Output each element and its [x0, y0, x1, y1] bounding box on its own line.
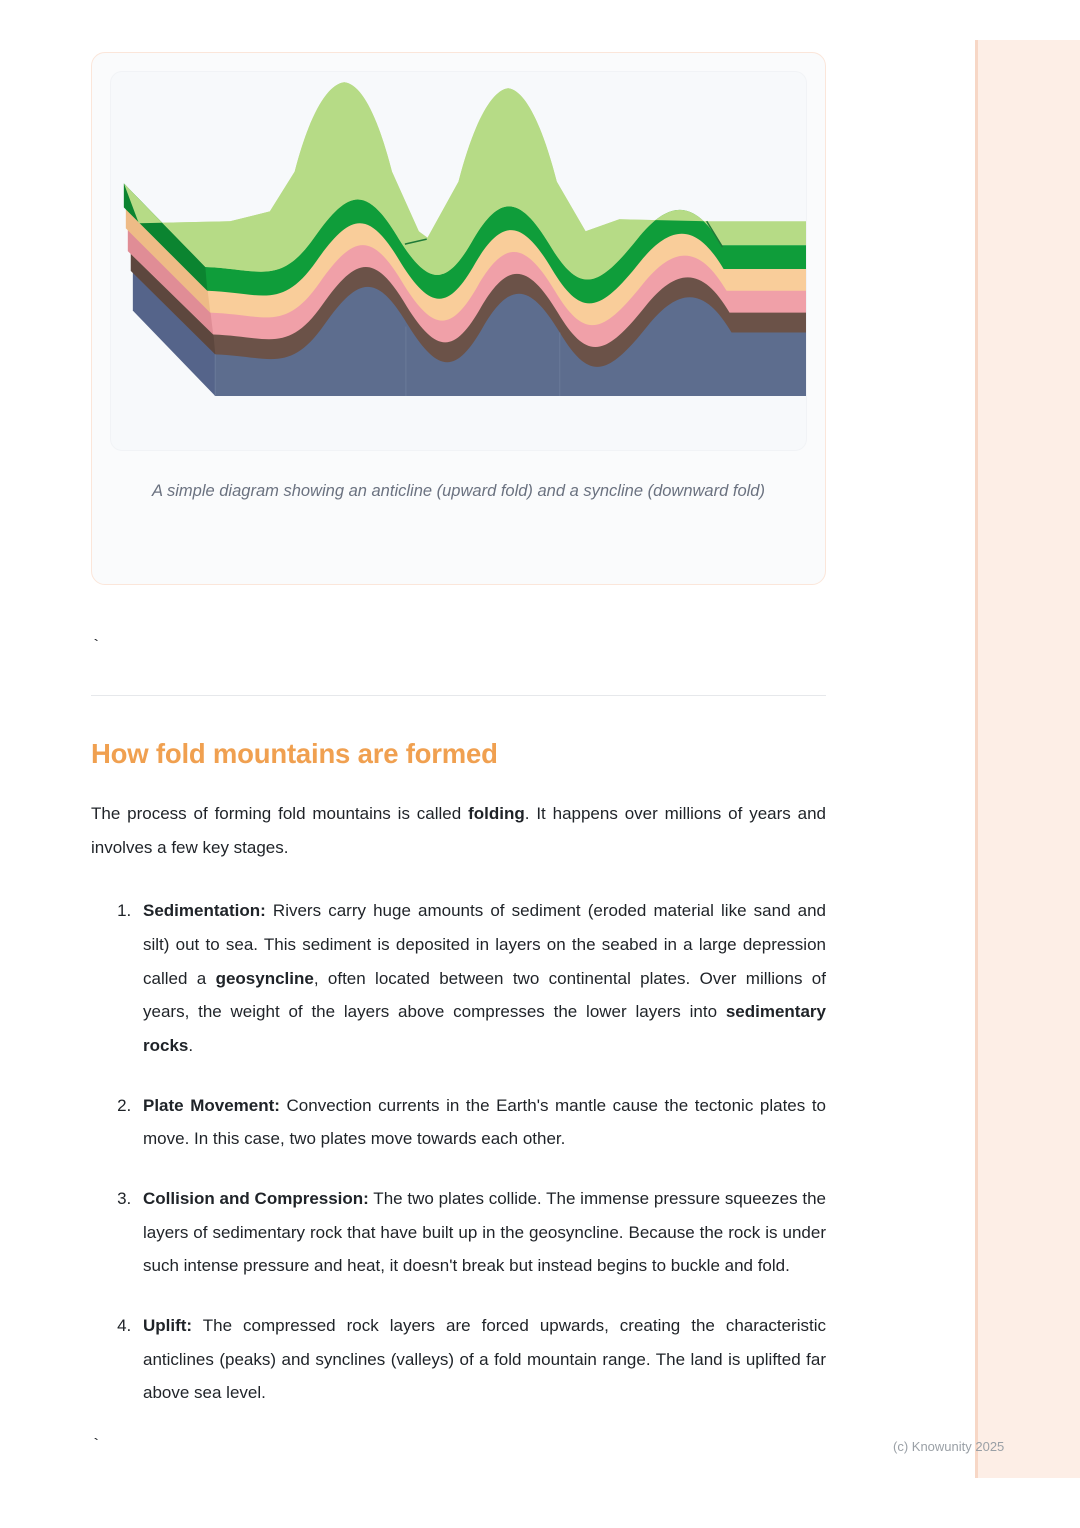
right-side-panel [975, 40, 1080, 1478]
intro-text-part1: The process of forming fold mountains is… [91, 804, 468, 823]
section-heading: How fold mountains are formed [91, 738, 826, 770]
step-title: Sedimentation: [143, 901, 266, 920]
step-bold-a: geosyncline [216, 969, 314, 988]
intro-bold-folding: folding [468, 804, 525, 823]
step-title: Uplift: [143, 1316, 192, 1335]
footer-copyright: (c) Knowunity 2025 [893, 1439, 1004, 1454]
stray-backtick-bottom: ` [91, 1438, 826, 1458]
intro-paragraph: The process of forming fold mountains is… [91, 797, 826, 864]
step-title: Collision and Compression: [143, 1189, 369, 1208]
list-item: Plate Movement: Convection currents in t… [136, 1089, 826, 1156]
step-text-a: The compressed rock layers are forced up… [143, 1316, 826, 1402]
list-item: Collision and Compression: The two plate… [136, 1182, 826, 1283]
stray-backtick-top: ` [91, 639, 826, 659]
figure-card: A simple diagram showing an anticline (u… [91, 52, 826, 585]
figure-caption: A simple diagram showing an anticline (u… [110, 477, 807, 505]
document-content: A simple diagram showing an anticline (u… [91, 52, 826, 1458]
section-divider [91, 695, 826, 696]
step-title: Plate Movement: [143, 1096, 280, 1115]
steps-list: Sedimentation: Rivers carry huge amounts… [91, 894, 826, 1410]
fold-mountain-diagram [111, 72, 806, 450]
list-item: Uplift: The compressed rock layers are f… [136, 1309, 826, 1410]
list-item: Sedimentation: Rivers carry huge amounts… [136, 894, 826, 1062]
figure-image-frame [110, 71, 807, 451]
step-text-c: . [188, 1036, 193, 1055]
